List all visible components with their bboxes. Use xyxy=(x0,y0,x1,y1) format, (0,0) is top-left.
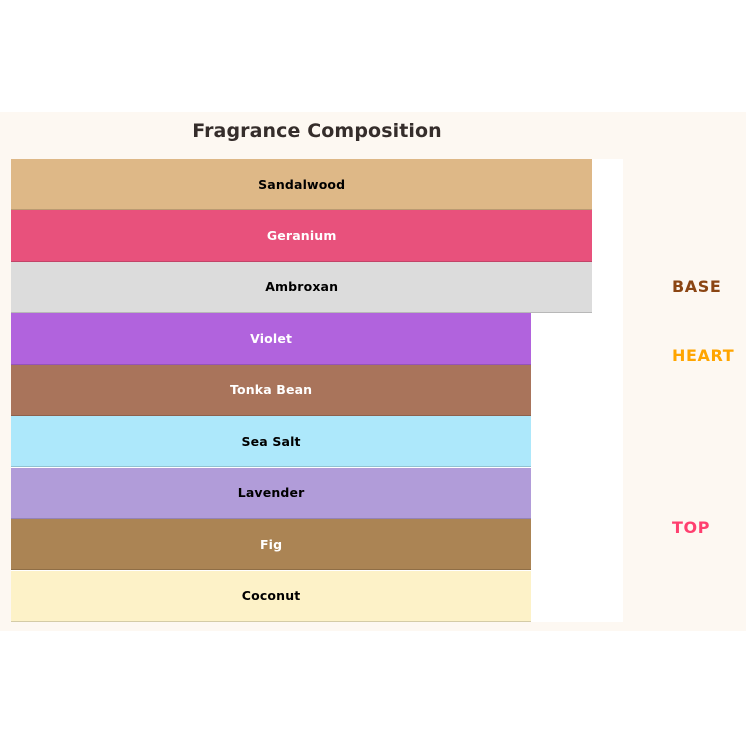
bar-violet[interactable]: Violet xyxy=(11,313,531,364)
bar-label: Ambroxan xyxy=(265,279,338,294)
bar-ambroxan[interactable]: Ambroxan xyxy=(11,262,592,313)
bar-sandalwood[interactable]: Sandalwood xyxy=(11,159,592,210)
bar-fig[interactable]: Fig xyxy=(11,519,531,570)
bar-sea-salt[interactable]: Sea Salt xyxy=(11,416,531,467)
bar-geranium[interactable]: Geranium xyxy=(11,210,592,261)
bar-label: Fig xyxy=(260,537,282,552)
bar-lavender[interactable]: Lavender xyxy=(11,468,531,519)
stage-label-top: TOP xyxy=(672,518,710,537)
bar-label: Lavender xyxy=(238,485,305,500)
bar-label: Violet xyxy=(250,331,292,346)
plot-area: SandalwoodGeraniumAmbroxanVioletTonka Be… xyxy=(11,159,623,622)
bar-label: Coconut xyxy=(242,588,301,603)
bar-label: Tonka Bean xyxy=(230,382,312,397)
page-title: Fragrance Composition xyxy=(0,118,634,144)
bar-tonka-bean[interactable]: Tonka Bean xyxy=(11,365,531,416)
bar-label: Geranium xyxy=(267,228,337,243)
bar-coconut[interactable]: Coconut xyxy=(11,571,531,622)
bar-label: Sandalwood xyxy=(258,177,345,192)
stage-label-heart: HEART xyxy=(672,346,734,365)
stage-label-base: BASE xyxy=(672,277,721,296)
bar-label: Sea Salt xyxy=(242,434,301,449)
chart-figure: Fragrance Composition SandalwoodGeranium… xyxy=(0,0,746,746)
